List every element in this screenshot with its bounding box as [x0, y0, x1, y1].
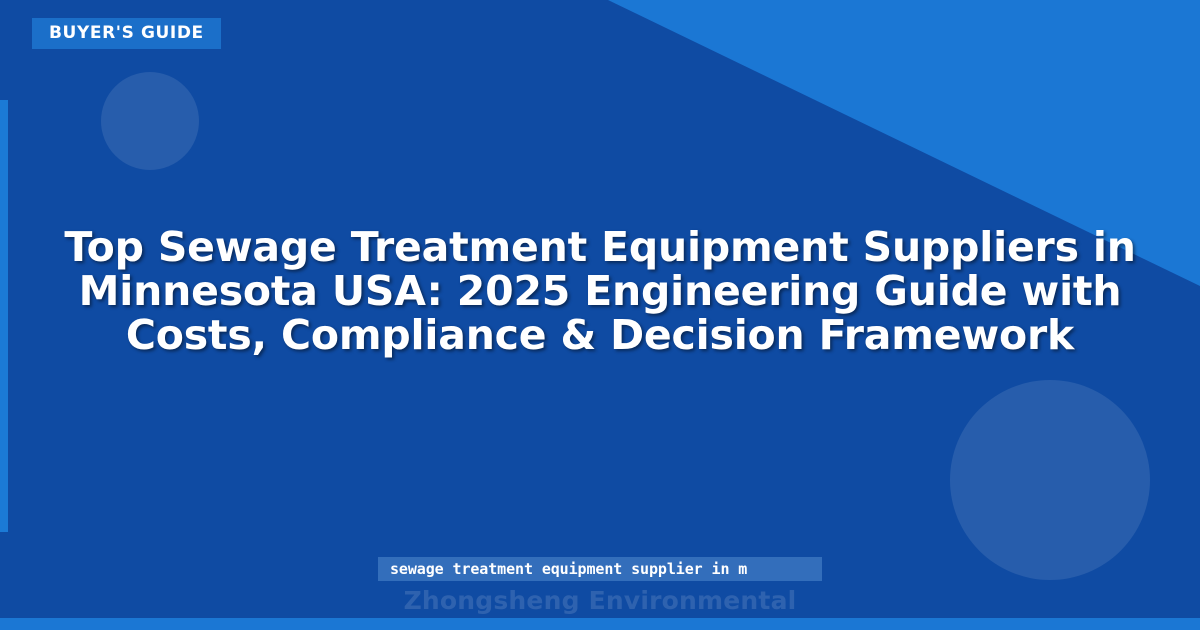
keyword-pill-label: sewage treatment equipment supplier in m — [390, 562, 747, 577]
keyword-pill: sewage treatment equipment supplier in m — [378, 557, 822, 581]
brand-watermark: Zhongsheng Environmental — [0, 588, 1200, 613]
left-accent-bar — [0, 100, 8, 532]
social-card-canvas: BUYER'S GUIDE Top Sewage Treatment Equip… — [0, 0, 1200, 630]
page-title: Top Sewage Treatment Equipment Suppliers… — [60, 225, 1140, 357]
bottom-accent-strip — [0, 618, 1200, 630]
badge-label: BUYER'S GUIDE — [49, 25, 204, 42]
buyers-guide-badge: BUYER'S GUIDE — [32, 18, 221, 49]
circle-decoration-bottom-right — [950, 380, 1150, 580]
hero-title-block: Top Sewage Treatment Equipment Suppliers… — [60, 225, 1140, 357]
circle-decoration-top-left — [101, 72, 199, 170]
